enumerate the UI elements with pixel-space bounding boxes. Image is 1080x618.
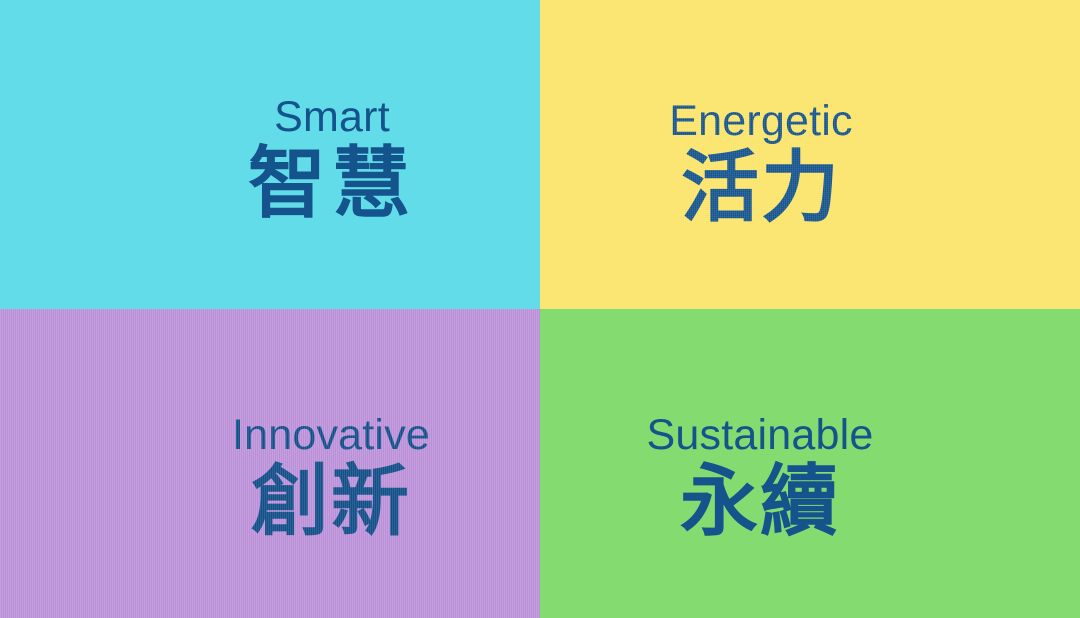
value-block-innovative: Innovative 創新 bbox=[0, 414, 540, 541]
quadrant-smart: Smart 智慧 bbox=[0, 0, 540, 309]
quadrant-energetic: Energetic 活力 bbox=[540, 0, 1080, 309]
value-chinese-smart: 智慧 bbox=[124, 145, 540, 223]
value-english-sustainable: Sustainable bbox=[540, 414, 980, 457]
value-english-innovative: Innovative bbox=[122, 414, 540, 457]
quadrant-sustainable: Sustainable 永續 bbox=[540, 309, 1080, 618]
brand-values-grid: Smart 智慧 Energetic 活力 Innovative 創新 Sust… bbox=[0, 0, 1080, 618]
value-block-energetic: Energetic 活力 bbox=[540, 100, 1080, 227]
value-chinese-energetic: 活力 bbox=[540, 149, 982, 227]
value-english-energetic: Energetic bbox=[540, 100, 982, 143]
value-english-smart: Smart bbox=[124, 96, 540, 139]
value-chinese-sustainable: 永續 bbox=[540, 463, 980, 541]
value-block-sustainable: Sustainable 永續 bbox=[540, 414, 1080, 541]
value-chinese-innovative: 創新 bbox=[122, 463, 540, 541]
quadrant-innovative: Innovative 創新 bbox=[0, 309, 540, 618]
value-block-smart: Smart 智慧 bbox=[0, 96, 540, 223]
